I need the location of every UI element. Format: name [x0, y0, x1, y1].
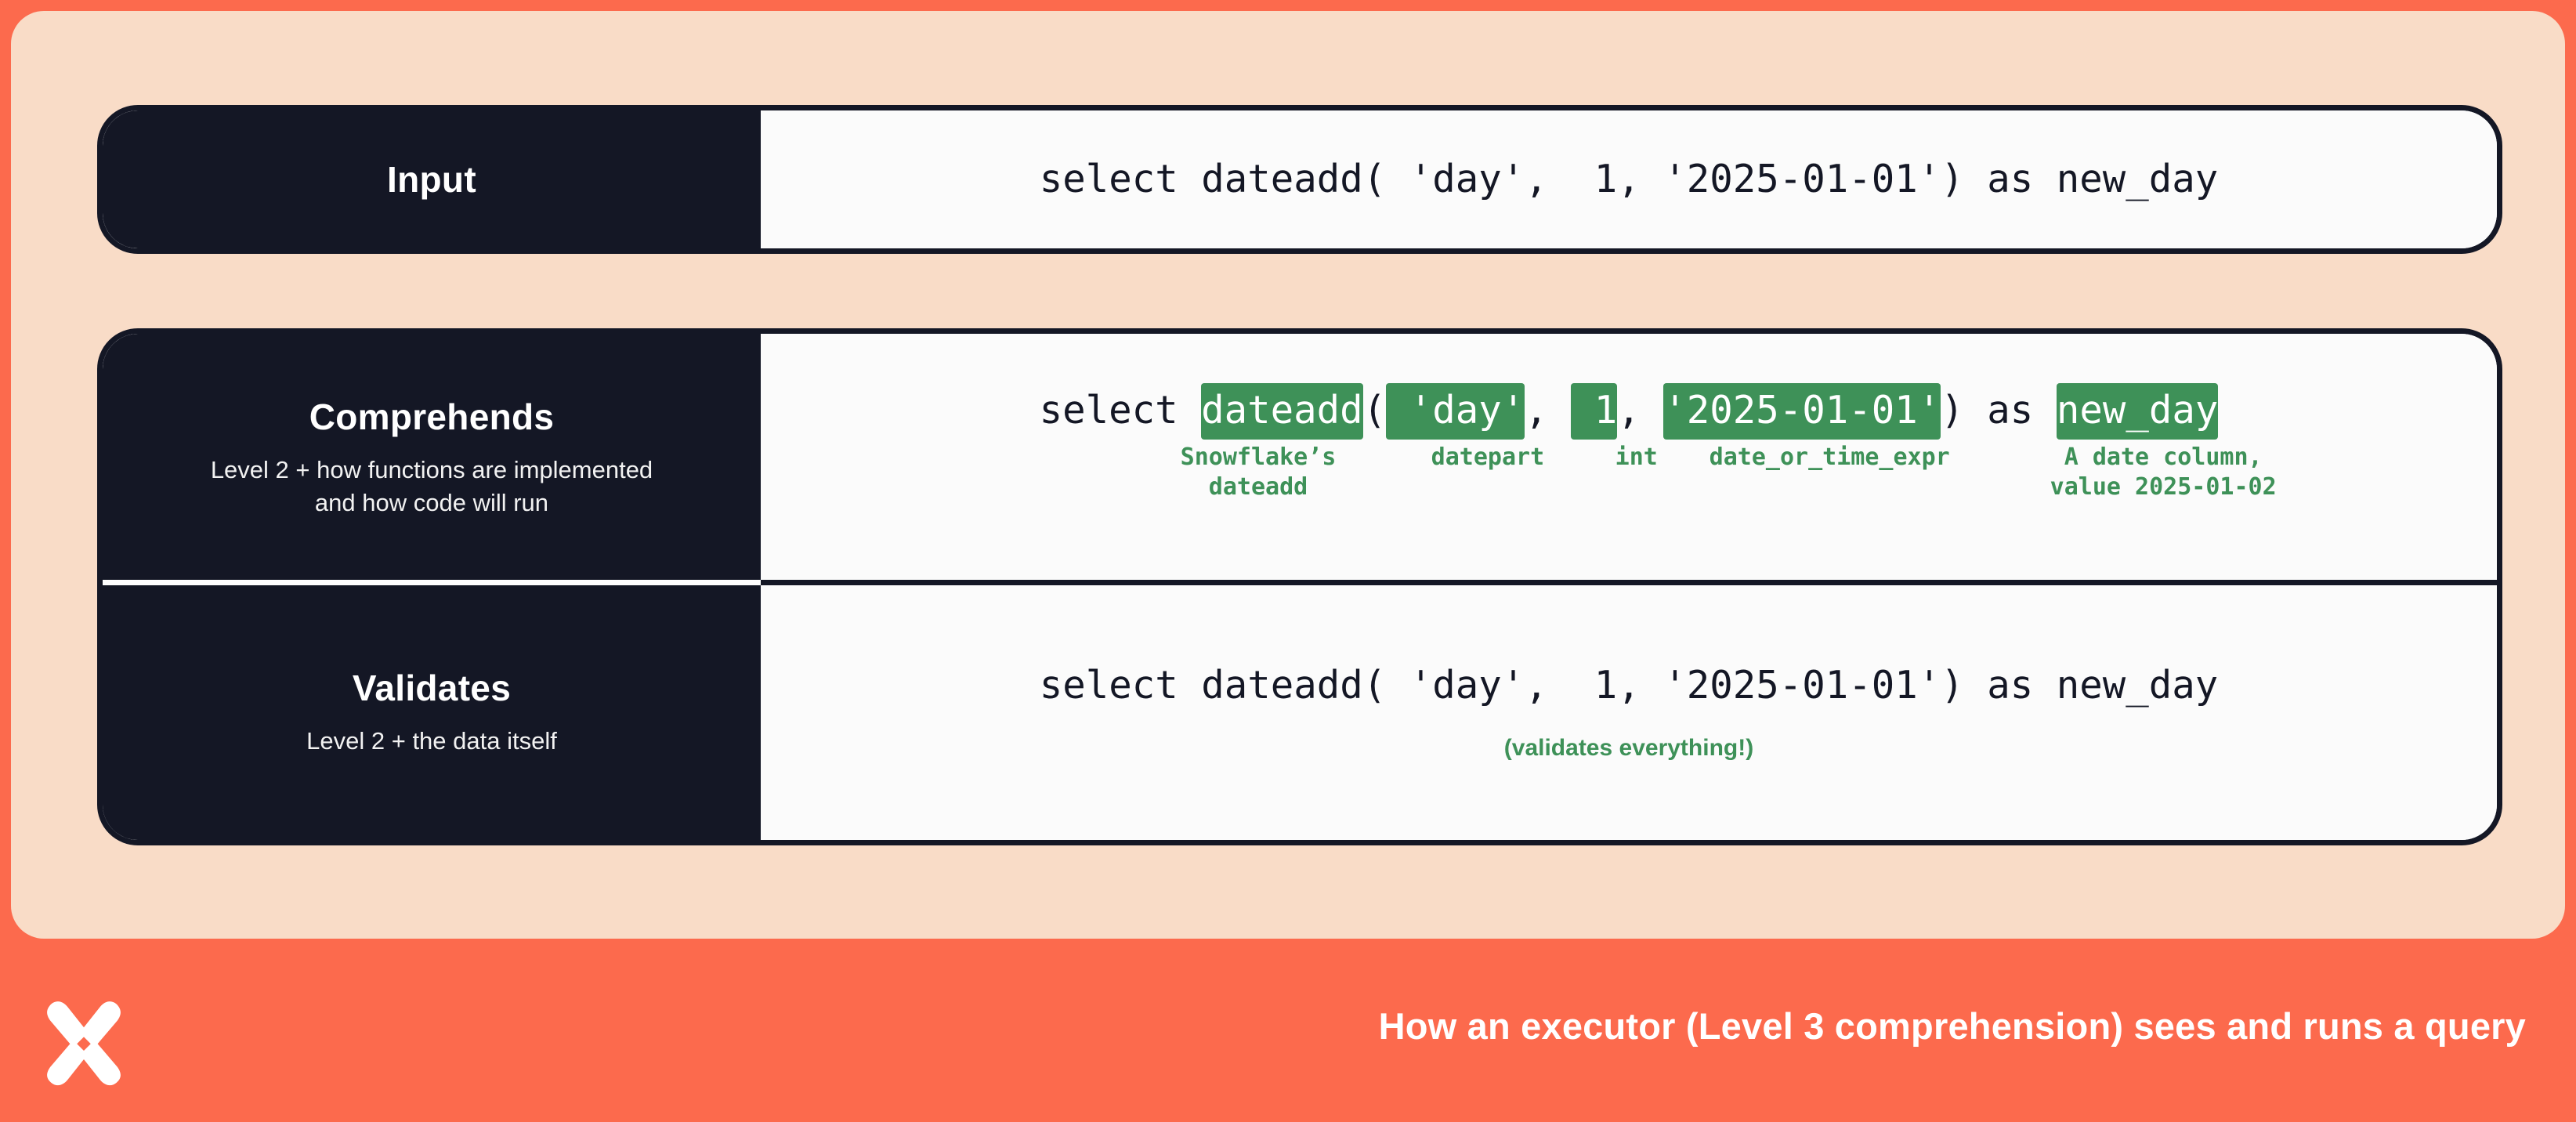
input-row-title: Input — [387, 159, 476, 201]
comprehends-row-subtitle: Level 2 + how functions are implemented … — [211, 454, 653, 521]
input-code-line: select dateadd( 'day', 1, '2025-01-01') … — [1040, 158, 2219, 201]
levels-card: Comprehends Level 2 + how functions are … — [97, 328, 2502, 845]
comprehends-content-pane: select dateadd( 'day', 1, '2025-01-01') … — [761, 334, 2497, 583]
validates-note: (validates everything!) — [1504, 735, 1753, 762]
row-divider — [103, 580, 2497, 585]
validates-row-subtitle: Level 2 + the data itself — [306, 725, 557, 758]
code-token: select — [1040, 388, 1202, 433]
slide-root: Input select dateadd( 'day', 1, '2025-01… — [0, 0, 2576, 1122]
comprehends-row: Comprehends Level 2 + how functions are … — [103, 334, 2497, 583]
validates-content-pane: select dateadd( 'day', 1, '2025-01-01') … — [761, 583, 2497, 843]
code-annotation: int — [1615, 443, 1658, 472]
x-star-logo-icon — [41, 998, 127, 1086]
code-annotation-line: date_or_time_expr — [1709, 443, 1950, 472]
validates-row: Validates Level 2 + the data itself sele… — [103, 583, 2497, 843]
validates-label-pane: Validates Level 2 + the data itself — [103, 583, 761, 843]
code-annotation-line: int — [1615, 443, 1658, 472]
comprehends-code-line: select dateadd( 'day', 1, '2025-01-01') … — [1040, 389, 2219, 432]
footer-caption: How an executor (Level 3 comprehension) … — [1379, 1004, 2526, 1048]
input-content-pane: select dateadd( 'day', 1, '2025-01-01') … — [761, 110, 2497, 248]
comprehends-subtitle-line-2: and how code will run — [315, 489, 548, 516]
code-token: ( — [1363, 388, 1387, 433]
code-token: as — [1964, 388, 2057, 433]
code-annotation: Snowflake’sdateadd — [1181, 443, 1337, 503]
comprehends-annotation-strip: Snowflake’sdateadddatepartintdate_or_tim… — [1040, 432, 2219, 516]
code-annotation: A date column,value 2025-01-02 — [2050, 443, 2277, 503]
row-divider-left-segment — [103, 580, 761, 585]
code-annotation-line: value 2025-01-02 — [2050, 472, 2277, 502]
footer-banner: How an executor (Level 3 comprehension) … — [0, 939, 2576, 1122]
validates-code-line: select dateadd( 'day', 1, '2025-01-01') … — [1040, 664, 2219, 707]
input-label-pane: Input — [103, 110, 761, 248]
validates-row-title: Validates — [353, 668, 511, 709]
comprehends-code-block: select dateadd( 'day', 1, '2025-01-01') … — [1040, 389, 2219, 516]
code-annotation: date_or_time_expr — [1709, 443, 1950, 472]
code-annotation-line: dateadd — [1181, 472, 1337, 502]
code-annotation-line: A date column, — [2050, 443, 2277, 472]
code-annotation-line: Snowflake’s — [1181, 443, 1337, 472]
code-token: ) — [1941, 388, 1964, 433]
code-token: , — [1525, 388, 1571, 433]
comprehends-row-title: Comprehends — [309, 396, 555, 438]
code-annotation: datepart — [1431, 443, 1545, 472]
comprehends-subtitle-line-1: Level 2 + how functions are implemented — [211, 456, 653, 483]
input-card: Input select dateadd( 'day', 1, '2025-01… — [97, 105, 2502, 254]
code-annotation-line: datepart — [1431, 443, 1545, 472]
code-token: , — [1617, 388, 1663, 433]
comprehends-label-pane: Comprehends Level 2 + how functions are … — [103, 334, 761, 583]
content-stage: Input select dateadd( 'day', 1, '2025-01… — [11, 11, 2565, 939]
